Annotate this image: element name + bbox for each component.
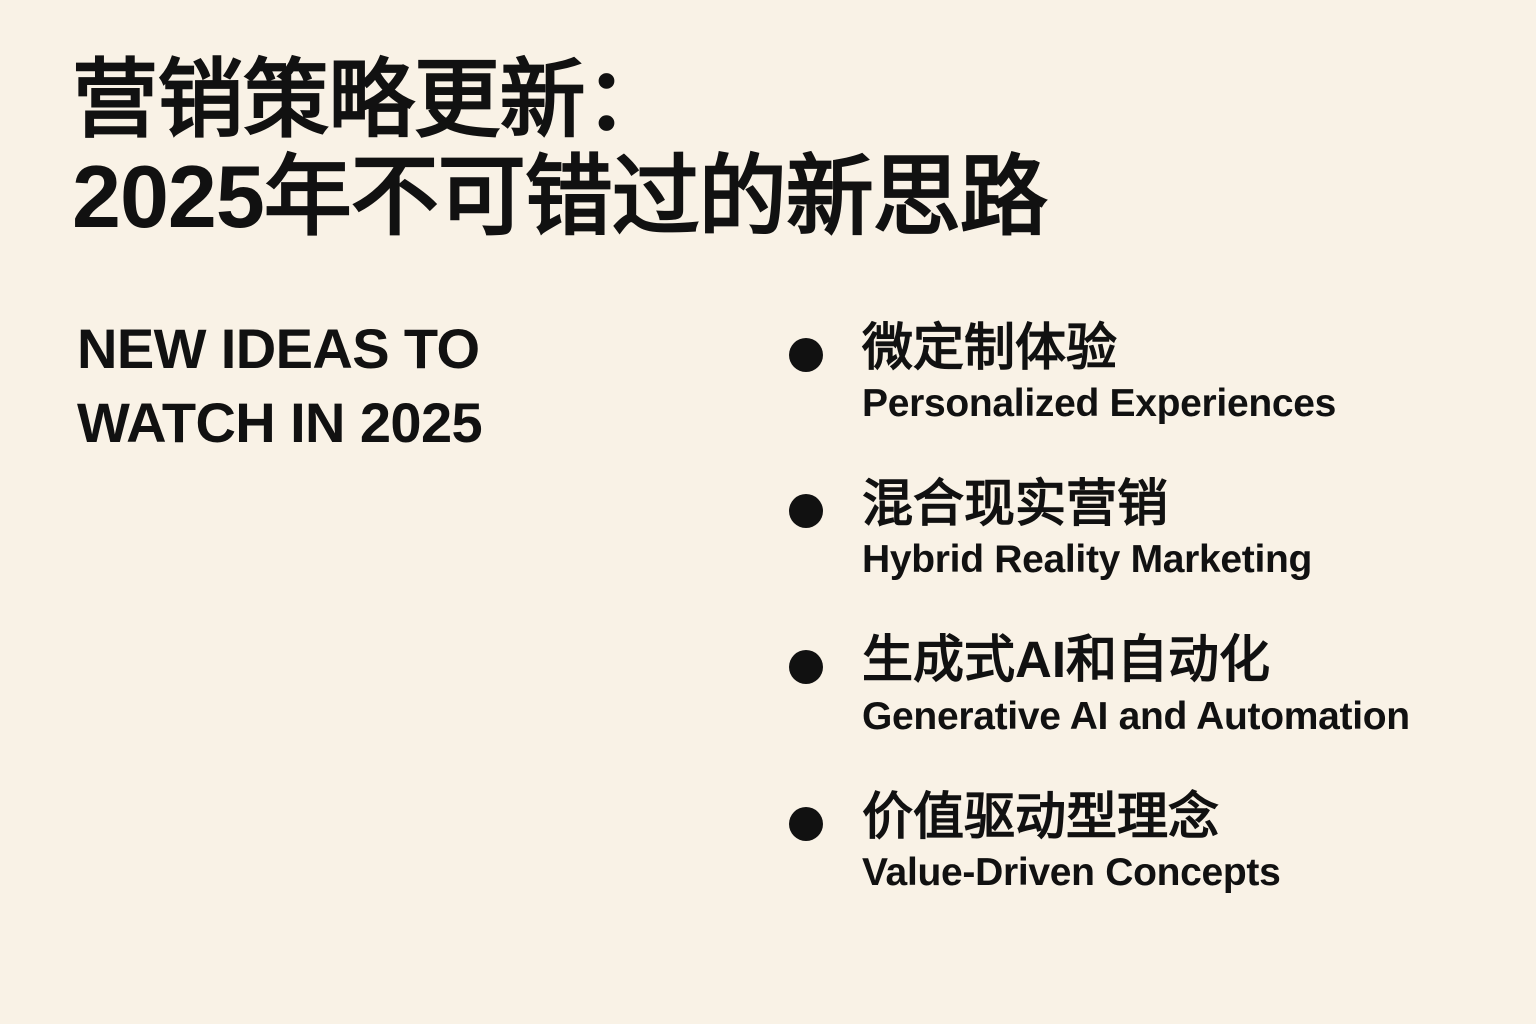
page-title: 营销策略更新： 2025年不可错过的新思路 — [72, 52, 1252, 247]
list-item-title-en: Hybrid Reality Marketing — [862, 537, 1516, 583]
list-item: 生成式AI和自动化 Generative AI and Automation — [786, 630, 1516, 739]
page-title-line-2: 2025年不可错过的新思路 — [72, 148, 1252, 247]
list-item: 微定制体验 Personalized Experiences — [786, 318, 1516, 427]
page-subtitle-line-1: NEW IDEAS TO — [77, 312, 697, 386]
list-item-title-cn: 价值驱动型理念 — [862, 787, 1516, 847]
list-item-title-cn: 生成式AI和自动化 — [862, 630, 1516, 690]
bullet-dot-icon — [789, 807, 823, 841]
page-title-line-1: 营销策略更新： — [72, 52, 1252, 148]
list-item-title-en: Personalized Experiences — [862, 381, 1516, 427]
list-item-title-cn: 微定制体验 — [862, 318, 1516, 378]
list-item: 价值驱动型理念 Value-Driven Concepts — [786, 787, 1516, 896]
bullet-dot-icon — [789, 650, 823, 684]
slide-canvas: 营销策略更新： 2025年不可错过的新思路 NEW IDEAS TO WATCH… — [0, 0, 1536, 1024]
list-item: 混合现实营销 Hybrid Reality Marketing — [786, 474, 1516, 583]
page-subtitle-line-2: WATCH IN 2025 — [77, 386, 697, 460]
list-item-title-en: Value-Driven Concepts — [862, 850, 1516, 896]
page-subtitle: NEW IDEAS TO WATCH IN 2025 — [77, 312, 697, 460]
bullet-dot-icon — [789, 494, 823, 528]
ideas-list: 微定制体验 Personalized Experiences 混合现实营销 Hy… — [786, 318, 1516, 896]
list-item-title-en: Generative AI and Automation — [862, 694, 1516, 740]
list-item-title-cn: 混合现实营销 — [862, 474, 1516, 534]
bullet-dot-icon — [789, 338, 823, 372]
